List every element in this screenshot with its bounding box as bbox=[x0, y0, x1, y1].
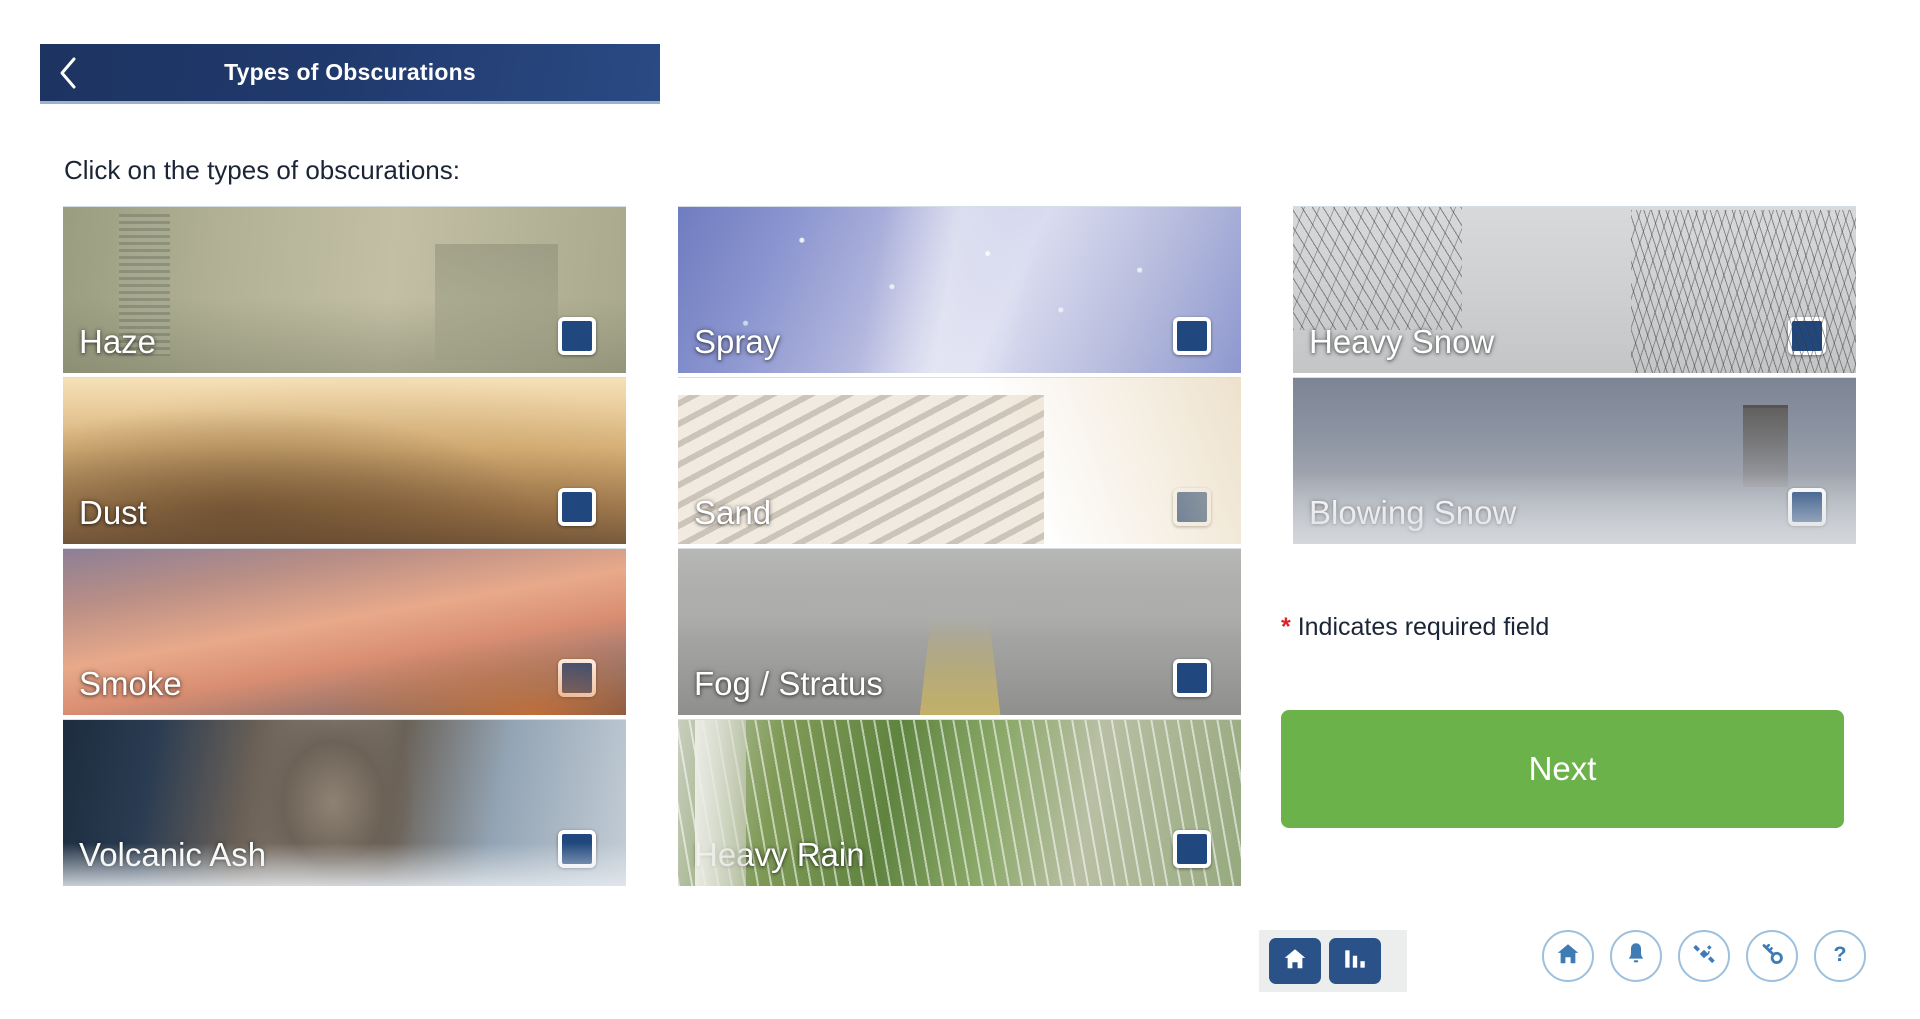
instruction-text: Click on the types of obscurations: bbox=[64, 155, 460, 186]
app-page: Types of Obscurations Click on the types… bbox=[0, 0, 1920, 1019]
obscuration-card-smoke[interactable]: Smoke bbox=[63, 548, 626, 715]
bar-chart-icon bbox=[1342, 946, 1368, 977]
checkbox-smoke[interactable] bbox=[558, 659, 596, 697]
obscuration-card-volcanic-ash[interactable]: Volcanic Ash bbox=[63, 719, 626, 886]
home-icon bbox=[1555, 941, 1581, 972]
toolbar-chart-button[interactable] bbox=[1329, 938, 1381, 984]
back-button[interactable] bbox=[40, 43, 96, 103]
card-label: Volcanic Ash bbox=[79, 836, 266, 874]
checkbox-blowing-snow[interactable] bbox=[1788, 488, 1826, 526]
bottom-toolbar bbox=[1259, 930, 1407, 992]
utility-icon-bar: ? bbox=[1542, 930, 1866, 982]
card-label: Blowing Snow bbox=[1309, 494, 1516, 532]
svg-text:?: ? bbox=[1833, 941, 1846, 966]
checkbox-haze[interactable] bbox=[558, 317, 596, 355]
obscuration-card-heavy-rain[interactable]: Heavy Rain bbox=[678, 719, 1241, 886]
next-button[interactable]: Next bbox=[1281, 710, 1844, 828]
checkbox-dust[interactable] bbox=[558, 488, 596, 526]
checkbox-spray[interactable] bbox=[1173, 317, 1211, 355]
required-asterisk: * bbox=[1281, 613, 1291, 641]
card-label: Haze bbox=[79, 323, 156, 361]
card-label: Dust bbox=[79, 494, 147, 532]
checkbox-sand[interactable] bbox=[1173, 488, 1211, 526]
obscuration-column-2: Spray Sand Fog / Stratus Heavy Rain bbox=[678, 206, 1241, 890]
card-label: Heavy Snow bbox=[1309, 323, 1494, 361]
obscuration-card-sand[interactable]: Sand bbox=[678, 377, 1241, 544]
checkbox-fog-stratus[interactable] bbox=[1173, 659, 1211, 697]
card-label: Heavy Rain bbox=[694, 836, 865, 874]
circle-home-button[interactable] bbox=[1542, 930, 1594, 982]
obscuration-card-blowing-snow[interactable]: Blowing Snow bbox=[1293, 377, 1856, 544]
obscuration-card-heavy-snow[interactable]: Heavy Snow bbox=[1293, 206, 1856, 373]
circle-help-button[interactable]: ? bbox=[1814, 930, 1866, 982]
checkbox-heavy-rain[interactable] bbox=[1173, 830, 1211, 868]
required-note-text: Indicates required field bbox=[1298, 613, 1550, 641]
circle-key-button[interactable] bbox=[1746, 930, 1798, 982]
circle-satellite-button[interactable] bbox=[1678, 930, 1730, 982]
card-label: Fog / Stratus bbox=[694, 665, 883, 703]
page-title: Types of Obscurations bbox=[96, 59, 660, 86]
home-icon bbox=[1282, 946, 1308, 977]
obscuration-card-dust[interactable]: Dust bbox=[63, 377, 626, 544]
required-field-note: * Indicates required field bbox=[1281, 613, 1549, 642]
toolbar-home-button[interactable] bbox=[1269, 938, 1321, 984]
card-label: Smoke bbox=[79, 665, 182, 703]
obscuration-column-1: Haze Dust Smoke Volcanic Ash bbox=[63, 206, 626, 890]
card-label: Spray bbox=[694, 323, 780, 361]
satellite-icon bbox=[1691, 941, 1717, 972]
card-label: Sand bbox=[694, 494, 771, 532]
obscuration-card-haze[interactable]: Haze bbox=[63, 206, 626, 373]
obscuration-card-spray[interactable]: Spray bbox=[678, 206, 1241, 373]
obscuration-card-fog-stratus[interactable]: Fog / Stratus bbox=[678, 548, 1241, 715]
chevron-left-icon bbox=[58, 56, 78, 90]
page-header: Types of Obscurations bbox=[40, 44, 660, 104]
key-icon bbox=[1759, 941, 1785, 972]
circle-notifications-button[interactable] bbox=[1610, 930, 1662, 982]
checkbox-volcanic-ash[interactable] bbox=[558, 830, 596, 868]
question-mark-icon: ? bbox=[1827, 941, 1853, 972]
checkbox-heavy-snow[interactable] bbox=[1788, 317, 1826, 355]
bell-icon bbox=[1624, 941, 1648, 972]
